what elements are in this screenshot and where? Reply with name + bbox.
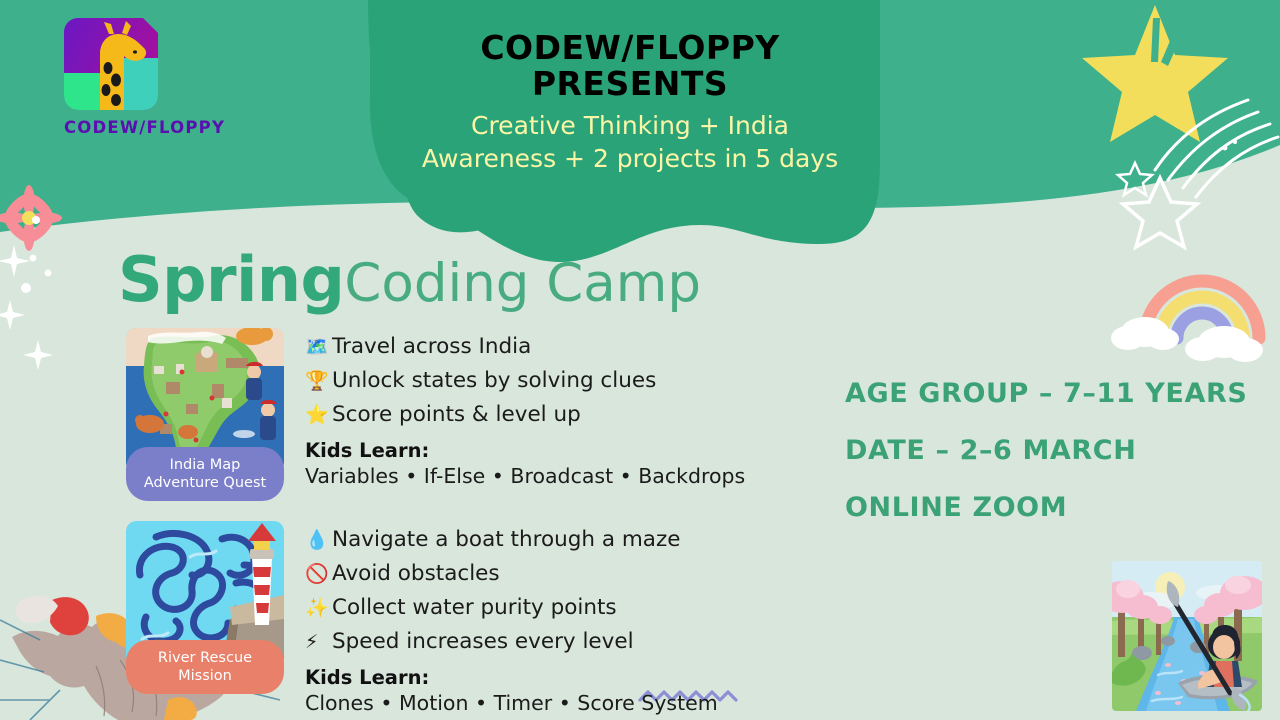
course-thumbnail[interactable]: River Rescue Mission	[126, 521, 284, 666]
platform-line: ONLINE ZOOM	[845, 492, 1247, 523]
list-item: ✨ Collect water purity points	[305, 591, 718, 625]
list-item-label: Navigate a boat through a maze	[332, 523, 680, 557]
course-feature-list: 🗺️ Travel across India 🏆 Unlock states b…	[305, 328, 745, 488]
poster-canvas: CODEW/FLOPPY CODEW/FLOPPY PRESENTS Creat…	[0, 0, 1280, 720]
course-thumbnail[interactable]: India Map Adventure Quest	[126, 328, 284, 473]
course-card-india-map[interactable]: India Map Adventure Quest 🗺️ Travel acro…	[126, 328, 745, 488]
badge-line-2: Adventure Quest	[130, 474, 280, 492]
course-card-river-rescue[interactable]: River Rescue Mission 💧 Navigate a boat t…	[126, 521, 718, 715]
page-title: SpringCoding Camp	[118, 243, 701, 316]
badge-line-1: River Rescue	[130, 649, 280, 667]
list-item-label: Score points & level up	[332, 398, 581, 432]
sparkles-icon: ✨	[305, 593, 332, 623]
title-bold-word: Spring	[118, 243, 344, 316]
kids-learn-heading: Kids Learn:	[305, 666, 718, 689]
info-block: AGE GROUP – 7–11 YEARS DATE – 2–6 MARCH …	[845, 378, 1247, 549]
date-line: DATE – 2–6 MARCH	[845, 435, 1247, 466]
list-item: 🚫 Avoid obstacles	[305, 557, 718, 591]
course-badge: India Map Adventure Quest	[126, 447, 284, 501]
lightning-bolt-icon: ⚡	[305, 627, 332, 657]
kayaking-illustration	[1112, 561, 1262, 711]
list-item: 🗺️ Travel across India	[305, 330, 745, 364]
list-item: 💧 Navigate a boat through a maze	[305, 523, 718, 557]
trophy-icon: 🏆	[305, 366, 332, 396]
list-item-label: Collect water purity points	[332, 591, 617, 625]
star-icon: ⭐	[305, 400, 332, 430]
kids-learn-body: Variables • If-Else • Broadcast • Backdr…	[305, 464, 745, 488]
list-item: ⚡ Speed increases every level	[305, 625, 718, 659]
world-map-icon: 🗺️	[305, 332, 332, 362]
list-item: ⭐ Score points & level up	[305, 398, 745, 432]
header-subtitle-1: Creative Thinking + India	[380, 109, 880, 142]
presents-title: CODEW/FLOPPY PRESENTS	[380, 30, 880, 103]
title-light-words: Coding Camp	[344, 253, 701, 314]
header-block: CODEW/FLOPPY PRESENTS Creative Thinking …	[380, 30, 880, 175]
list-item-label: Travel across India	[332, 330, 531, 364]
list-item: 🏆 Unlock states by solving clues	[305, 364, 745, 398]
kids-learn-body: Clones • Motion • Timer • Score System	[305, 691, 718, 715]
header-subtitle-2: Awareness + 2 projects in 5 days	[380, 142, 880, 175]
badge-line-2: Mission	[130, 667, 280, 685]
brand-name: CODEW/FLOPPY	[64, 118, 172, 137]
list-item-label: Unlock states by solving clues	[332, 364, 656, 398]
kids-learn-heading: Kids Learn:	[305, 439, 745, 462]
list-item-label: Avoid obstacles	[332, 557, 500, 591]
course-feature-list: 💧 Navigate a boat through a maze 🚫 Avoid…	[305, 521, 718, 715]
course-badge: River Rescue Mission	[126, 640, 284, 694]
giraffe-logo-icon	[64, 18, 167, 112]
water-drop-icon: 💧	[305, 525, 332, 555]
age-group-line: AGE GROUP – 7–11 YEARS	[845, 378, 1247, 409]
no-entry-icon: 🚫	[305, 559, 332, 589]
brand-logo[interactable]: CODEW/FLOPPY	[64, 18, 179, 137]
list-item-label: Speed increases every level	[332, 625, 634, 659]
badge-line-1: India Map	[130, 456, 280, 474]
